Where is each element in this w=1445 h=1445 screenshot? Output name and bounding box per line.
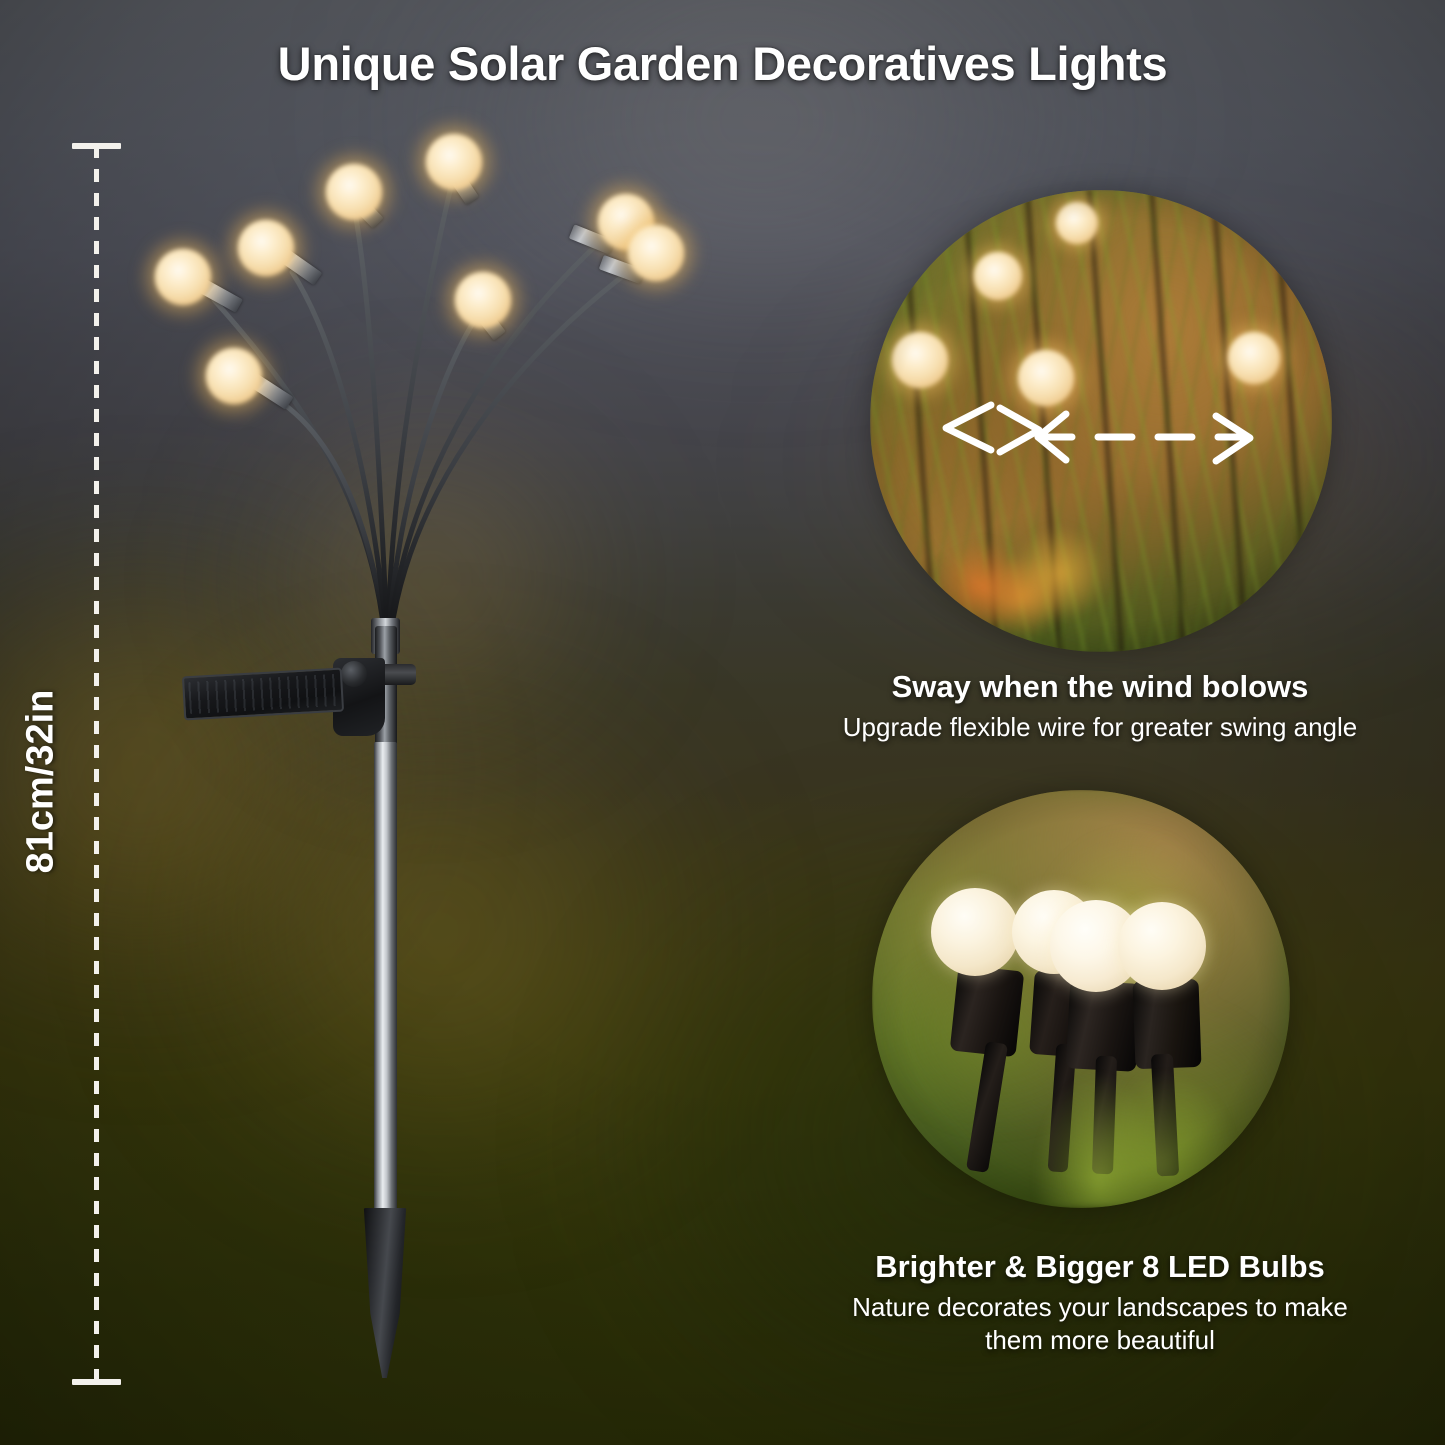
bulb: [155, 249, 211, 305]
feature-caption-sway: Sway when the wind bolows Upgrade flexib…: [800, 668, 1400, 744]
bulb: [238, 220, 294, 276]
bulb: [628, 225, 684, 281]
photo-sway-vignette: [870, 190, 1332, 652]
product-solar-firefly-light: [0, 0, 760, 1445]
feature-subtext-led-bulbs-line1: Nature decorates your landscapes to make: [800, 1291, 1400, 1324]
bulb: [326, 164, 382, 220]
bulb: [206, 348, 262, 404]
hinge-knob-icon: [341, 661, 367, 687]
feature-subtext-led-bulbs-line2: them more beautiful: [800, 1324, 1400, 1357]
feature-caption-led-bulbs: Brighter & Bigger 8 LED Bulbs Nature dec…: [800, 1248, 1400, 1357]
feature-heading-led-bulbs: Brighter & Bigger 8 LED Bulbs: [800, 1248, 1400, 1285]
ground-stake-tip: [362, 1208, 408, 1378]
pole-lower-steel: [374, 742, 397, 1210]
solar-panel: [182, 668, 344, 721]
bulb: [455, 272, 511, 328]
product-infographic: Unique Solar Garden Decoratives Lights 8…: [0, 0, 1445, 1445]
solar-panel-cells: [188, 674, 338, 714]
bulb: [426, 134, 482, 190]
feature-heading-sway: Sway when the wind bolows: [800, 668, 1400, 705]
feature-subtext-sway: Upgrade flexible wire for greater swing …: [800, 711, 1400, 744]
feature-photo-led-bulbs: [872, 790, 1290, 1208]
photo-led-vignette: [872, 790, 1290, 1208]
feature-photo-sway: [870, 190, 1332, 652]
